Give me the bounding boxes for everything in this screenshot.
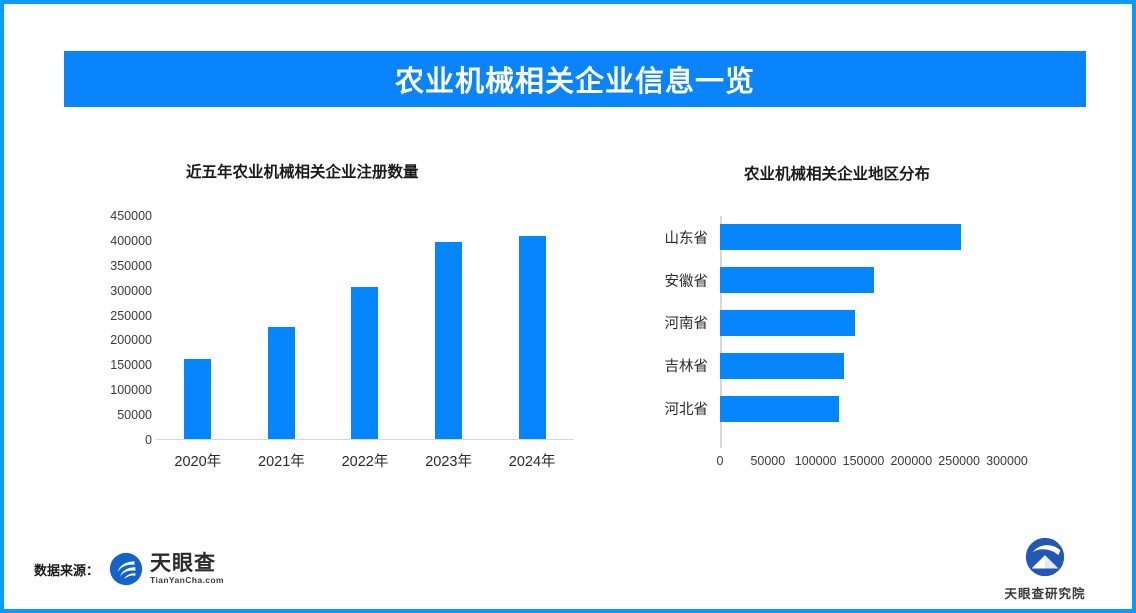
bar-chart-track [720, 344, 1084, 387]
tianyancha-brand-cn: 天眼查 [150, 553, 224, 575]
column-chart-x-tick: 2022年 [323, 450, 407, 471]
bar-chart-bar[interactable] [720, 310, 855, 336]
bar-chart-rows: 山东省安徽省河南省吉林省河北省 [604, 216, 1084, 430]
footer-institute: 天眼查研究院 [990, 534, 1100, 602]
bar-chart-bar[interactable] [720, 267, 874, 293]
column-chart-bars [156, 215, 574, 439]
column-chart-slot [240, 215, 324, 439]
bar-chart-track [720, 259, 1084, 302]
bar-chart-category-label: 吉林省 [604, 355, 720, 376]
column-chart-y-tick: 250000 [110, 309, 152, 323]
column-chart-y-tick: 350000 [110, 259, 152, 273]
footer-source: 数据来源： 天眼查 TianYanCha.com [34, 552, 224, 586]
column-chart-slot [323, 215, 407, 439]
tianyancha-logo: 天眼查 TianYanCha.com [109, 552, 224, 586]
column-chart-bar[interactable] [184, 359, 211, 439]
column-chart-y-tick: 50000 [117, 408, 152, 422]
column-chart-slot [156, 215, 240, 439]
bar-chart-row: 吉林省 [604, 344, 1084, 387]
column-chart-y-tick: 0 [145, 433, 152, 447]
column-chart-x-tick: 2023年 [407, 450, 491, 471]
bar-chart-x-tick: 250000 [938, 454, 980, 468]
bar-chart-row: 河南省 [604, 302, 1084, 345]
column-chart-y-tick: 400000 [110, 234, 152, 248]
bar-chart: 山东省安徽省河南省吉林省河北省 050000100000150000200000… [604, 216, 1084, 506]
chart-title-registrations: 近五年农业机械相关企业注册数量 [186, 160, 584, 182]
tianyancha-logo-icon [109, 552, 143, 586]
bar-chart-category-label: 山东省 [604, 227, 720, 248]
bar-chart-track [720, 302, 1084, 345]
bar-chart-x-tick: 100000 [795, 454, 837, 468]
bar-chart-track [720, 387, 1084, 430]
page-title: 农业机械相关企业信息一览 [395, 58, 755, 100]
tianyancha-research-institute-logo-icon [1022, 534, 1068, 580]
chart-panel-registrations: 近五年农业机械相关企业注册数量 050000100000150000200000… [64, 144, 584, 514]
column-chart-baseline [156, 439, 574, 441]
tianyancha-brand-en: TianYanCha.com [150, 575, 224, 585]
column-chart-y-tick: 100000 [110, 383, 152, 397]
bar-chart-x-tick: 300000 [986, 454, 1028, 468]
column-chart-y-tick: 200000 [110, 333, 152, 347]
column-chart-bar[interactable] [268, 327, 295, 439]
bar-chart-x-tick: 200000 [890, 454, 932, 468]
column-chart-y-tick: 300000 [110, 284, 152, 298]
bar-chart-x-tick: 50000 [750, 454, 785, 468]
source-label: 数据来源： [34, 560, 99, 579]
column-chart-bar[interactable] [351, 287, 378, 438]
bar-chart-bar[interactable] [720, 353, 844, 379]
bar-chart-x-axis: 050000100000150000200000250000300000 [720, 454, 1020, 474]
chart-title-region: 农业机械相关企业地区分布 [744, 162, 1084, 184]
tianyancha-wordmark: 天眼查 TianYanCha.com [150, 553, 224, 585]
column-chart-y-axis: 0500001000001500002000002500003000003500… [64, 214, 152, 440]
bar-chart-category-label: 河南省 [604, 312, 720, 333]
column-chart-bar[interactable] [519, 236, 546, 439]
institute-name: 天眼查研究院 [1004, 583, 1085, 602]
column-chart-y-tick: 450000 [110, 209, 152, 223]
bar-chart-category-label: 河北省 [604, 398, 720, 419]
bar-chart-x-tick: 0 [717, 454, 724, 468]
column-chart-slot [490, 215, 574, 439]
bar-chart-x-tick: 150000 [843, 454, 885, 468]
column-chart-plot-area [156, 214, 574, 440]
infographic-page: 农业机械相关企业信息一览 近五年农业机械相关企业注册数量 05000010000… [0, 0, 1136, 613]
bar-chart-row: 山东省 [604, 216, 1084, 259]
column-chart-x-tick: 2021年 [240, 450, 324, 471]
chart-panel-region: 农业机械相关企业地区分布 山东省安徽省河南省吉林省河北省 05000010000… [604, 144, 1084, 514]
column-chart-x-axis: 2020年2021年2022年2023年2024年 [156, 450, 574, 471]
column-chart-x-tick: 2024年 [490, 450, 574, 471]
column-chart-slot [407, 215, 491, 439]
bar-chart-bar[interactable] [720, 224, 961, 250]
bar-chart-row: 河北省 [604, 387, 1084, 430]
header-banner: 农业机械相关企业信息一览 [64, 51, 1086, 107]
bar-chart-category-label: 安徽省 [604, 270, 720, 291]
bar-chart-bar[interactable] [720, 396, 839, 422]
column-chart-y-tick: 150000 [110, 358, 152, 372]
column-chart-bar[interactable] [435, 242, 462, 439]
bar-chart-row: 安徽省 [604, 259, 1084, 302]
column-chart-x-tick: 2020年 [156, 450, 240, 471]
bar-chart-track [720, 216, 1084, 259]
column-chart: 0500001000001500002000002500003000003500… [64, 214, 584, 504]
